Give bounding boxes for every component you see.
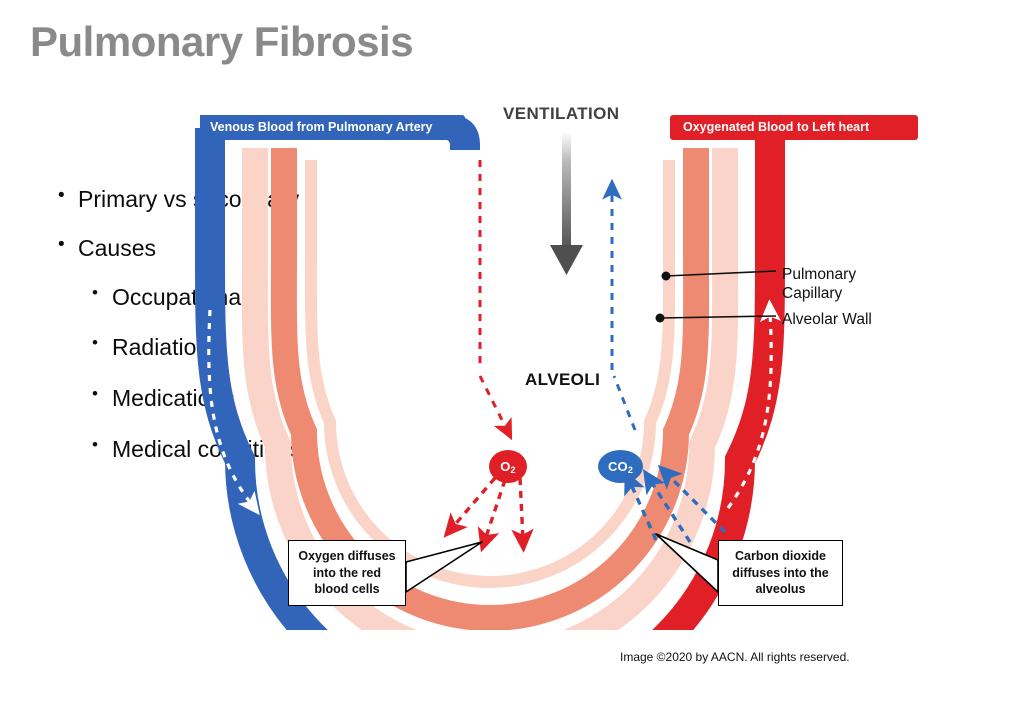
carbon-dioxide-molecule-badge: CO2 (598, 450, 643, 483)
callout-oxygen-diffusion: Oxygen diffuses into the red blood cells (288, 540, 406, 606)
alveoli-label: ALVEOLI (525, 370, 600, 390)
pulmonary-capillary-label: Pulmonary Capillary (782, 266, 902, 304)
oxygen-subscript: 2 (511, 465, 516, 475)
carbon-dioxide-subscript: 2 (628, 465, 633, 475)
banner-venous-blood-label: Venous Blood from Pulmonary Artery (210, 121, 433, 134)
alveolar-wall-label: Alveolar Wall (782, 311, 892, 330)
carbon-dioxide-path-line (614, 376, 635, 430)
copyright-notice: Image ©2020 by AACN. All rights reserved… (620, 650, 850, 664)
alveolar-inner-lining (311, 160, 669, 582)
oxygen-diffusion-arrows (452, 478, 523, 540)
ventilation-arrow-icon (550, 132, 583, 275)
oxygen-molecule-badge: O2 (489, 450, 527, 483)
ventilation-label: VENTILATION (503, 104, 619, 124)
banner-oxygenated-blood-label: Oxygenated Blood to Left heart (683, 121, 869, 134)
carbon-dioxide-symbol: CO (608, 459, 628, 474)
oxygen-symbol: O (500, 459, 510, 474)
callout-carbon-dioxide-diffusion: Carbon dioxide diffuses into the alveolu… (718, 540, 843, 606)
oxygen-path-arrow (480, 376, 507, 430)
page-title: Pulmonary Fibrosis (30, 18, 413, 66)
slide-canvas: Pulmonary Fibrosis Primary vs secondary … (0, 0, 1014, 702)
